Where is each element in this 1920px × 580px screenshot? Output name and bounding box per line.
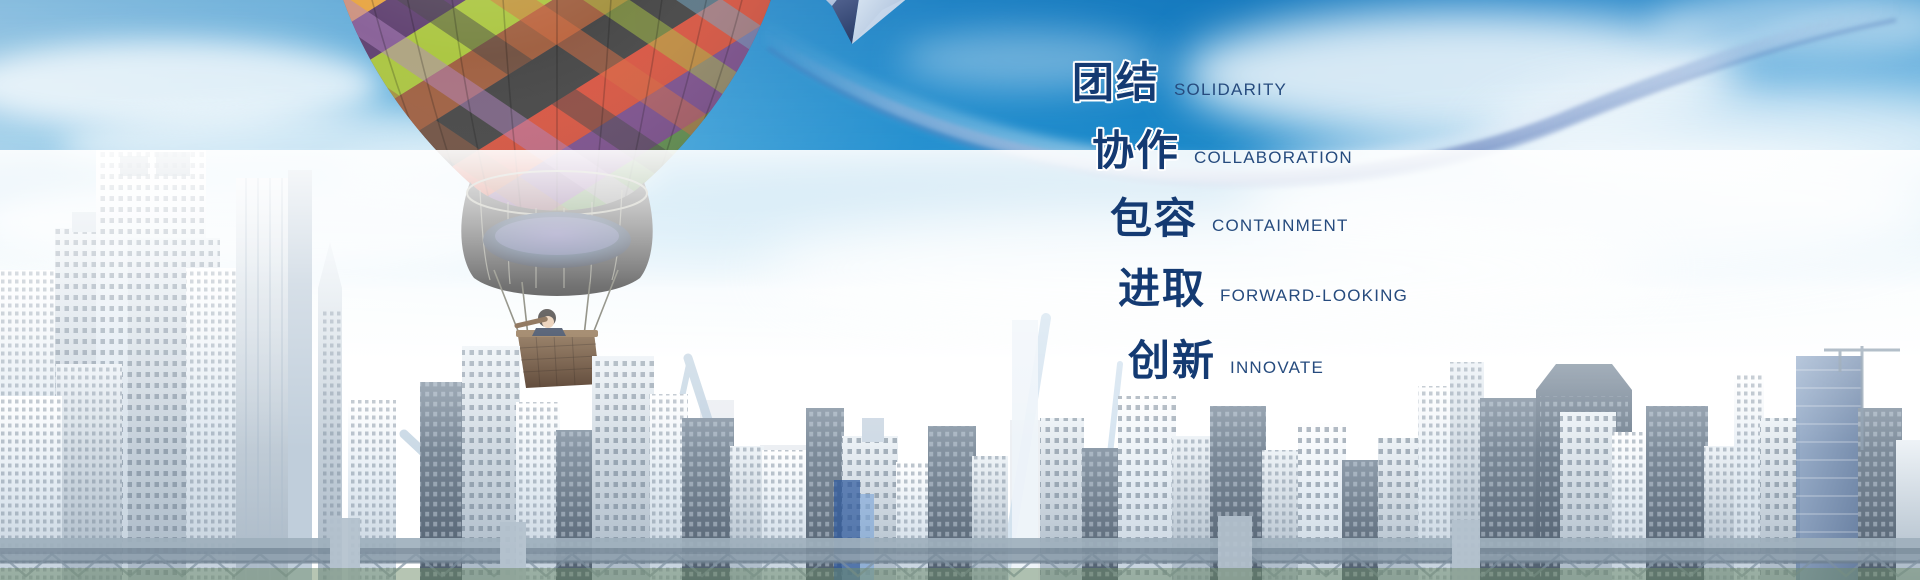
corporate-culture-banner: 团结 SOLIDARITY 协作 COLLABORATION 包容 CONTAI… (0, 0, 1920, 580)
paper-airplane-icon (790, 0, 920, 56)
slogan-row-solidarity: 团结 SOLIDARITY (1072, 62, 1287, 104)
slogan-en-forward-looking: FORWARD-LOOKING (1220, 286, 1408, 306)
slogan-en-solidarity: SOLIDARITY (1174, 80, 1287, 100)
slogan-en-collaboration: COLLABORATION (1194, 148, 1353, 168)
slogan-en-innovate: INNOVATE (1230, 358, 1324, 378)
slogan-row-forward-looking: 进取 FORWARD-LOOKING (1118, 268, 1408, 310)
slogan-row-containment: 包容 CONTAINMENT (1110, 198, 1349, 240)
slogan-row-collaboration: 协作 COLLABORATION (1092, 130, 1353, 172)
slogan-cn-containment: 包容 (1110, 198, 1198, 240)
slogan-cn-innovate: 创新 (1128, 340, 1216, 382)
slogan-cn-forward-looking: 进取 (1118, 268, 1206, 310)
slogan-cn-solidarity: 团结 (1072, 62, 1160, 104)
slogan-row-innovate: 创新 INNOVATE (1128, 340, 1324, 382)
slogan-block: 团结 SOLIDARITY 协作 COLLABORATION 包容 CONTAI… (0, 62, 1920, 382)
slogan-en-containment: CONTAINMENT (1212, 216, 1349, 236)
slogan-cn-collaboration: 协作 (1092, 130, 1180, 172)
